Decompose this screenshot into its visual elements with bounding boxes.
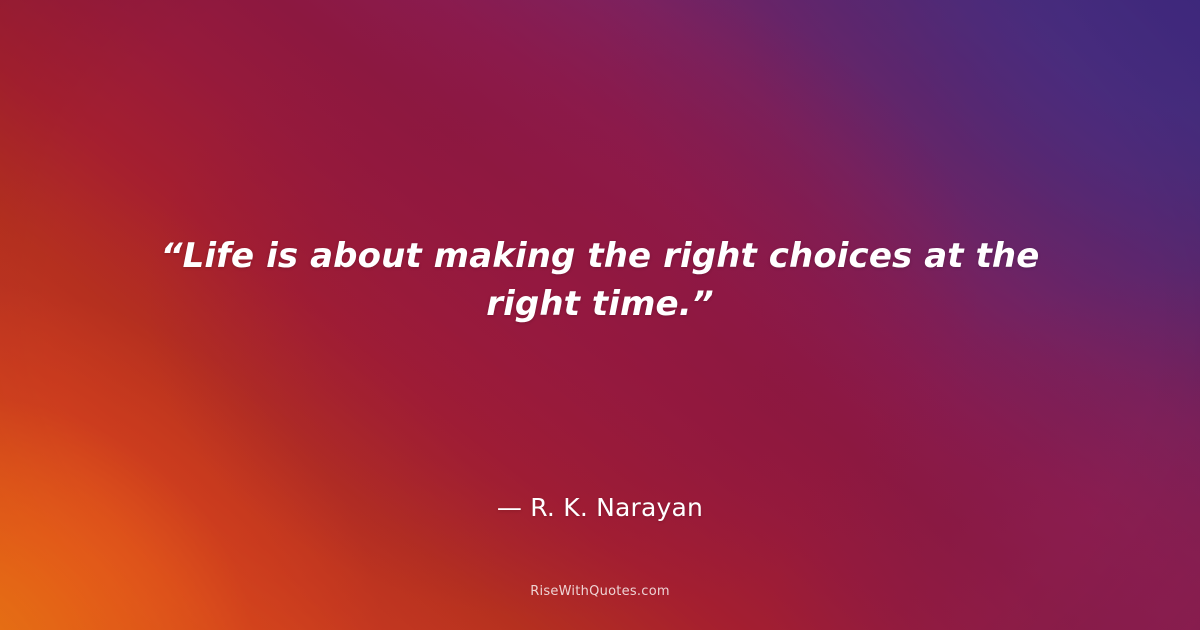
quote-content: “Life is about making the right choices …	[0, 0, 1200, 630]
site-watermark: RiseWithQuotes.com	[0, 584, 1200, 599]
quote-text: “Life is about making the right choices …	[0, 232, 1200, 328]
quote-card: “Life is about making the right choices …	[0, 0, 1200, 630]
quote-attribution: — R. K. Narayan	[0, 493, 1200, 522]
